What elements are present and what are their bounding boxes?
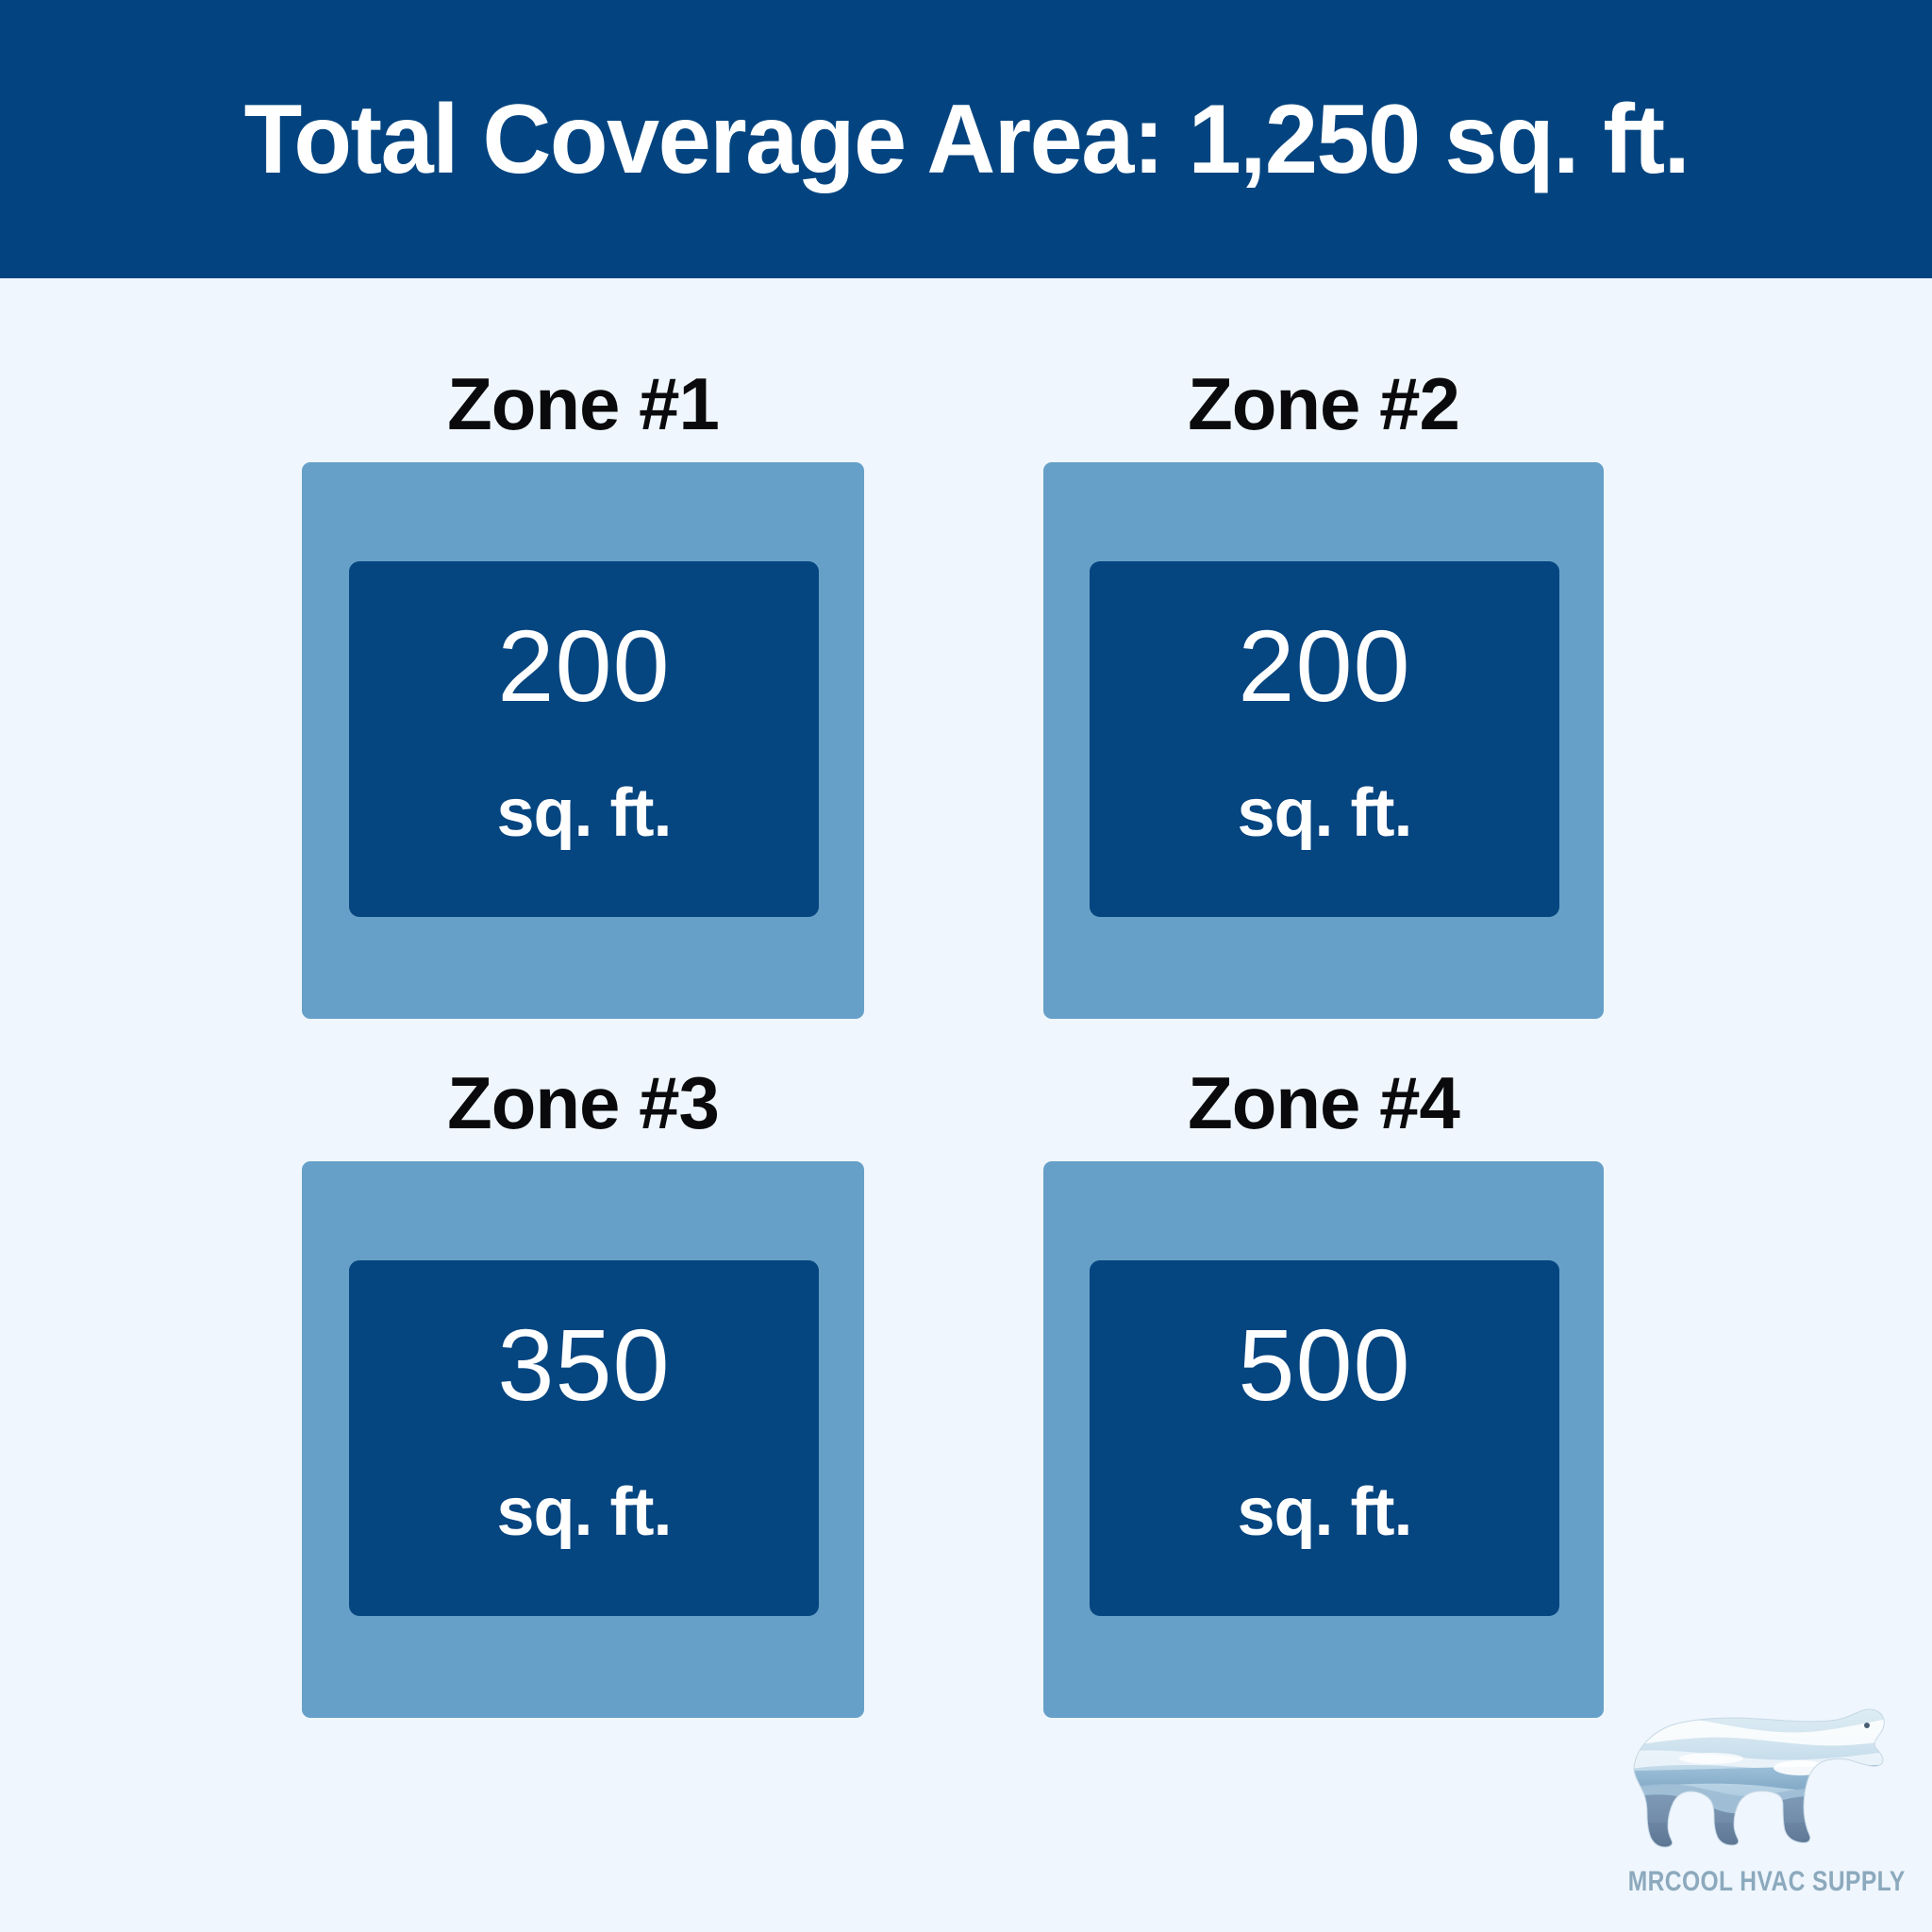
brand-name: MRCOOL HVAC SUPPLY [1628, 1868, 1884, 1896]
zone-unit-3: sq. ft. [497, 1478, 672, 1546]
zone-card-3: 350 sq. ft. [302, 1161, 864, 1718]
zone-label-4: Zone #4 [1043, 1060, 1604, 1145]
zone-cell-1: Zone #1 200 sq. ft. [302, 361, 864, 1019]
zone-cell-2: Zone #2 200 sq. ft. [1043, 361, 1604, 1019]
zone-value-1: 200 [497, 615, 670, 717]
zone-value-3: 350 [497, 1314, 670, 1416]
zone-value-box-4: 500 sq. ft. [1090, 1260, 1559, 1616]
zone-value-box-1: 200 sq. ft. [349, 561, 819, 917]
zone-value-2: 200 [1238, 615, 1410, 717]
zone-card-1: 200 sq. ft. [302, 462, 864, 1019]
polar-bear-icon [1600, 1681, 1911, 1866]
zone-unit-4: sq. ft. [1238, 1478, 1412, 1546]
zone-label-2: Zone #2 [1043, 361, 1604, 446]
zone-cell-4: Zone #4 500 sq. ft. [1043, 1060, 1604, 1718]
zone-card-2: 200 sq. ft. [1043, 462, 1604, 1019]
zone-label-3: Zone #3 [302, 1060, 864, 1145]
zone-unit-1: sq. ft. [497, 779, 672, 847]
zone-label-1: Zone #1 [302, 361, 864, 446]
zone-value-box-3: 350 sq. ft. [349, 1260, 819, 1616]
zone-card-4: 500 sq. ft. [1043, 1161, 1604, 1718]
header-banner: Total Coverage Area: 1,250 sq. ft. [0, 0, 1932, 278]
zone-unit-2: sq. ft. [1238, 779, 1412, 847]
brand-logo: MRCOOL HVAC SUPPLY [1600, 1681, 1911, 1919]
page-title: Total Coverage Area: 1,250 sq. ft. [243, 91, 1689, 189]
zone-value-4: 500 [1238, 1314, 1410, 1416]
zone-cell-3: Zone #3 350 sq. ft. [302, 1060, 864, 1718]
zone-value-box-2: 200 sq. ft. [1090, 561, 1559, 917]
